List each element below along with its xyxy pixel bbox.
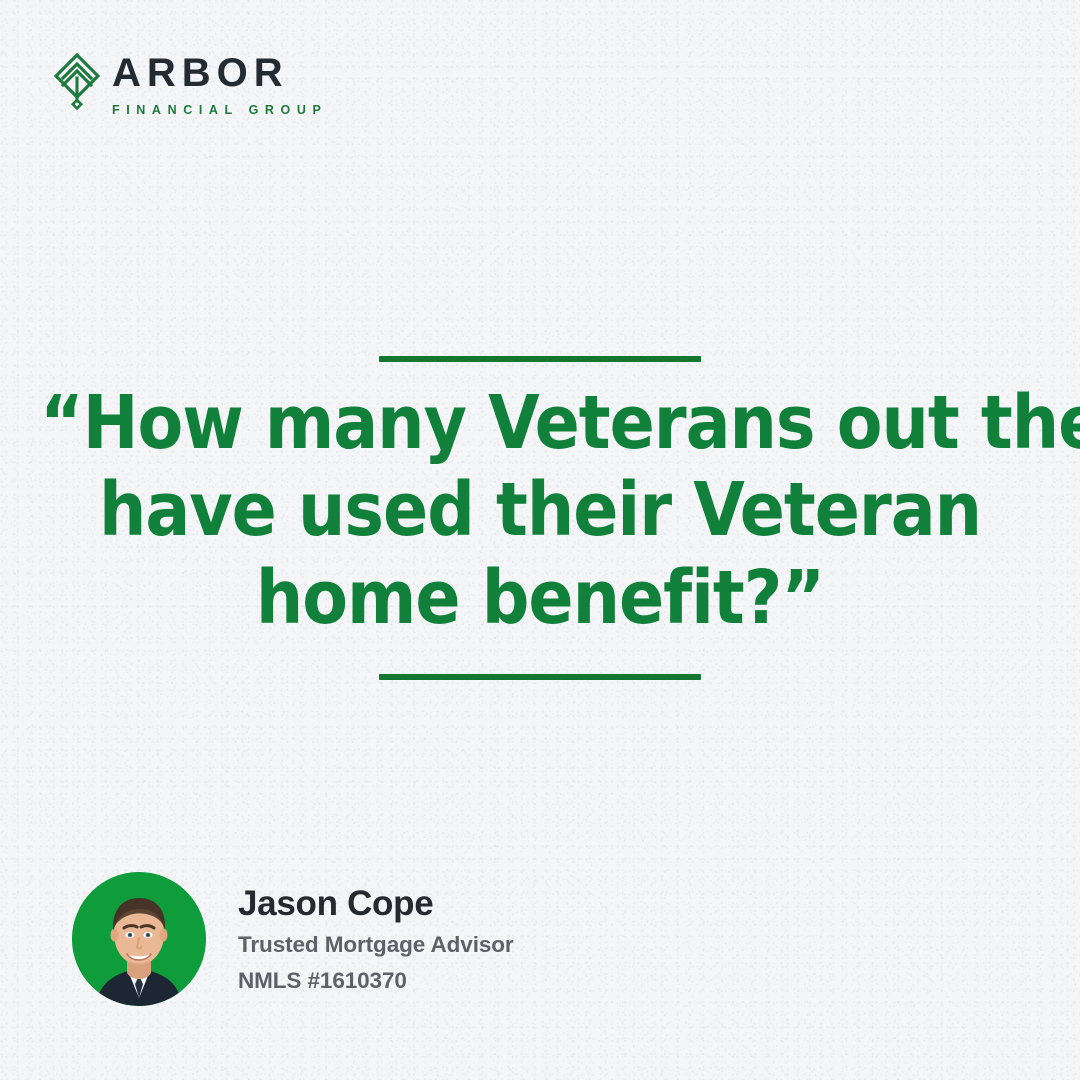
author-details: Jason Cope Trusted Mortgage Advisor NMLS…: [238, 884, 514, 993]
quote-line: have used their Veteran: [40, 467, 1040, 554]
author-license-number: NMLS #1610370: [238, 967, 514, 994]
quote-text: “How many Veterans out there have used t…: [40, 380, 1040, 642]
quote-line: home benefit?”: [40, 555, 1040, 642]
avatar: [72, 872, 206, 1006]
quote-block: “How many Veterans out there have used t…: [0, 356, 1080, 680]
headshot-avatar-icon: [72, 872, 206, 1006]
brand-tagline: FINANCIAL GROUP: [112, 104, 327, 117]
arbor-diamond-chevron-logo-icon: [52, 52, 102, 110]
brand-logo[interactable]: ARBOR FINANCIAL GROUP: [52, 50, 327, 117]
quote-line: “How many Veterans out there: [40, 380, 1040, 467]
social-quote-card: ARBOR FINANCIAL GROUP “How many Veterans…: [0, 0, 1080, 1080]
quote-divider-top: [379, 356, 701, 362]
author-title: Trusted Mortgage Advisor: [238, 931, 514, 958]
author-name: Jason Cope: [238, 884, 514, 923]
quote-divider-bottom: [379, 674, 701, 680]
author-block: Jason Cope Trusted Mortgage Advisor NMLS…: [72, 872, 514, 1006]
brand-wordmark: ARBOR: [112, 50, 327, 93]
brand-logo-text: ARBOR FINANCIAL GROUP: [112, 50, 327, 117]
